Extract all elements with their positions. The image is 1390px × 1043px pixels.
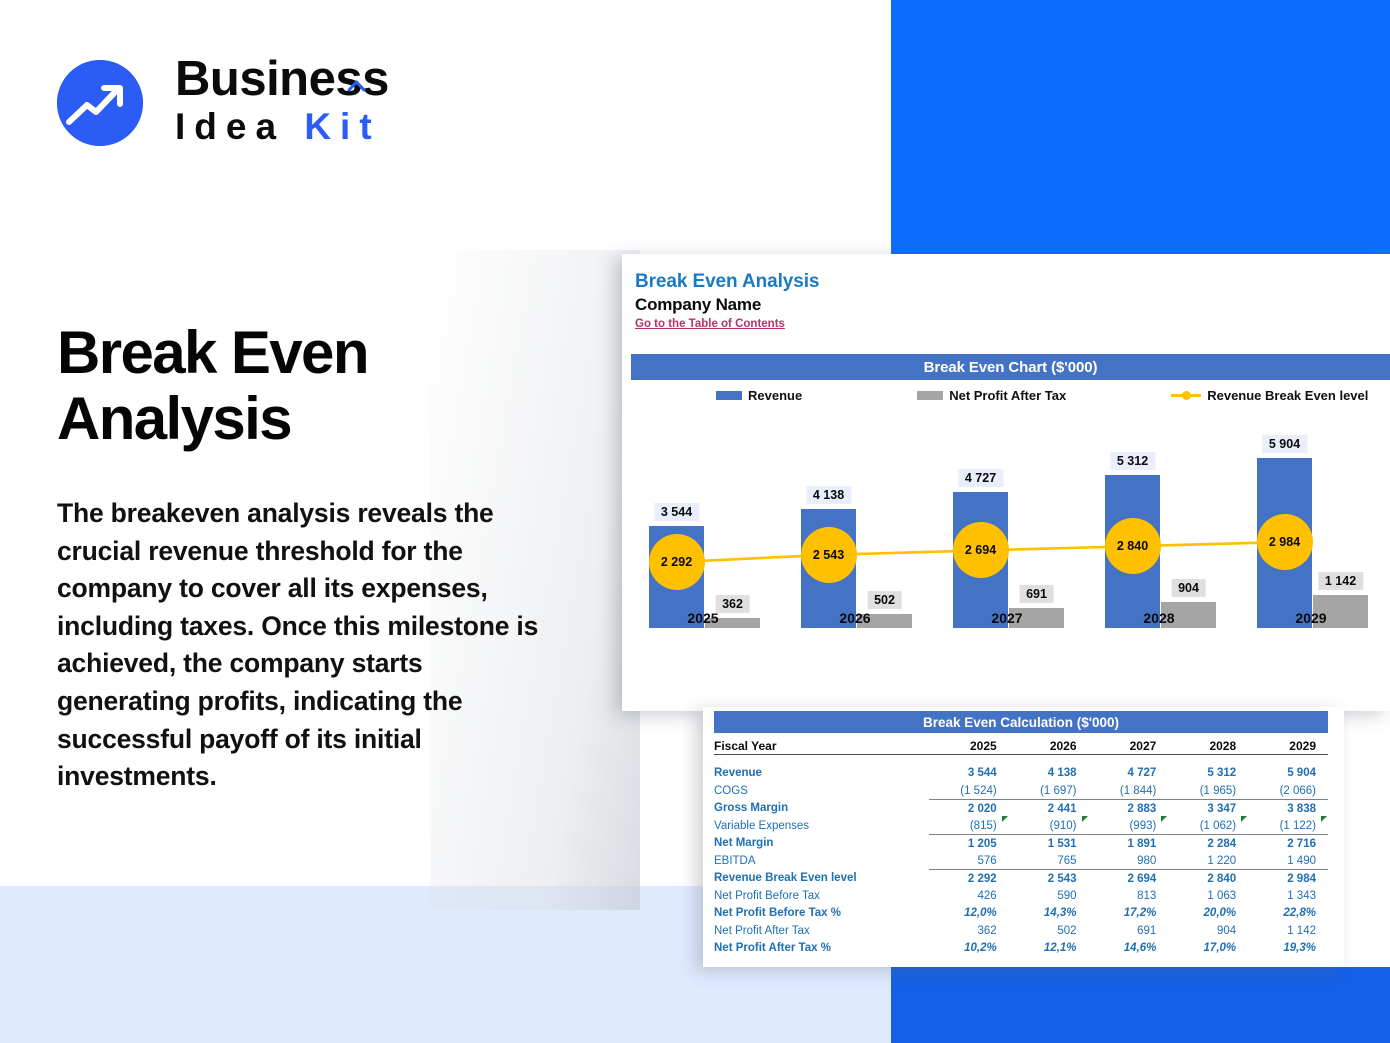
cell-2029: 2 984 (1248, 870, 1328, 888)
decor-block-bottom-right (891, 967, 1390, 1043)
cell-2029: 5 904 (1248, 765, 1328, 783)
cell-2025: 426 (929, 887, 1009, 905)
break-even-marker-2029: 2 984 (1257, 514, 1313, 570)
x-axis-label-2029: 2029 (1235, 610, 1387, 626)
comment-flag-icon (1241, 816, 1247, 822)
cell-2028: 1 063 (1168, 887, 1248, 905)
comment-flag-icon (1321, 816, 1327, 822)
chart-legend: Revenue Net Profit After Tax Revenue Bre… (631, 382, 1390, 408)
cell-2026: 1 531 (1009, 835, 1089, 853)
row-label: Variable Expenses (714, 817, 929, 835)
page-description: The breakeven analysis reveals the cruci… (57, 495, 547, 796)
chart-group-2027: 4 7276912027 (931, 414, 1083, 628)
cell-2029: 19,3% (1248, 940, 1328, 958)
row-label: Gross Margin (714, 800, 929, 818)
data-label-revenue-2028: 5 312 (1110, 452, 1155, 470)
cell-2025: 12,0% (929, 905, 1009, 923)
table-header-fiscal-year: Fiscal Year (714, 737, 929, 755)
cell-2026: 502 (1009, 922, 1089, 940)
chart-group-2026: 4 1385022026 (779, 414, 931, 628)
cell-2026: (910) (1009, 817, 1089, 835)
break-even-marker-2027: 2 694 (953, 522, 1009, 578)
cell-2029: 1 142 (1248, 922, 1328, 940)
brand-logo: Business Idea Kit (57, 52, 437, 157)
data-label-revenue-2027: 4 727 (958, 469, 1003, 487)
table-of-contents-link[interactable]: Go to the Table of Contents (635, 318, 785, 330)
row-label: Net Profit Before Tax % (714, 905, 929, 923)
x-axis-label-2028: 2028 (1083, 610, 1235, 626)
row-label: Net Profit Before Tax (714, 887, 929, 905)
data-label-npat-2029: 1 142 (1318, 572, 1363, 590)
brand-kit-text: Kit (304, 106, 380, 147)
cell-2028: 1 220 (1168, 852, 1248, 870)
cell-2025: (815) (929, 817, 1009, 835)
data-label-revenue-2025: 3 544 (654, 503, 699, 521)
cell-2027: 4 727 (1089, 765, 1169, 783)
cell-2029: (2 066) (1248, 782, 1328, 800)
cell-2027: 17,2% (1089, 905, 1169, 923)
cell-2026: 12,1% (1009, 940, 1089, 958)
row-label: EBITDA (714, 852, 929, 870)
brand-name-line2: Idea Kit (175, 106, 389, 148)
cell-2026: (1 697) (1009, 782, 1089, 800)
cell-2027: 1 891 (1089, 835, 1169, 853)
table-header-2029: 2029 (1248, 737, 1328, 755)
table-row: Net Profit After Tax3625026919041 142 (714, 922, 1328, 940)
cell-2025: 3 544 (929, 765, 1009, 783)
row-label: Revenue Break Even level (714, 870, 929, 888)
data-label-revenue-2026: 4 138 (806, 486, 851, 504)
table-row: Revenue Break Even level2 2922 5432 6942… (714, 870, 1328, 888)
cell-2027: (993) (1089, 817, 1169, 835)
table-title-band: Break Even Calculation ($'000) (714, 711, 1328, 733)
cell-2029: 22,8% (1248, 905, 1328, 923)
cell-2027: 2 883 (1089, 800, 1169, 818)
chart-group-2028: 5 3129042028 (1083, 414, 1235, 628)
row-label: Revenue (714, 765, 929, 783)
cell-2026: 590 (1009, 887, 1089, 905)
cell-2028: 904 (1168, 922, 1248, 940)
chart-group-2029: 5 9041 1422029 (1235, 414, 1387, 628)
cell-2028: 3 347 (1168, 800, 1248, 818)
brand-name-line1: Business (175, 52, 389, 106)
table-header-2025: 2025 (929, 737, 1009, 755)
cell-2029: 1 490 (1248, 852, 1328, 870)
break-even-marker-2025: 2 292 (649, 534, 705, 590)
cell-2028: 20,0% (1168, 905, 1248, 923)
chart-panel: Break Even Analysis Company Name Go to t… (622, 254, 1390, 711)
table-row: Net Margin1 2051 5311 8912 2842 716 (714, 835, 1328, 853)
chart-title-band: Break Even Chart ($'000) (631, 354, 1390, 380)
legend-label-break-even: Revenue Break Even level (1207, 388, 1368, 403)
row-label: COGS (714, 782, 929, 800)
table-header-2027: 2027 (1089, 737, 1169, 755)
table-row: COGS(1 524)(1 697)(1 844)(1 965)(2 066) (714, 782, 1328, 800)
sheet-title: Break Even Analysis (635, 271, 819, 293)
legend-item-revenue: Revenue (716, 388, 802, 403)
comment-flag-icon (1002, 816, 1008, 822)
cell-2029: (1 122) (1248, 817, 1328, 835)
table-head: Fiscal Year20252026202720282029 (714, 737, 1328, 755)
legend-label-npat: Net Profit After Tax (949, 388, 1066, 403)
cell-2026: 2 543 (1009, 870, 1089, 888)
cell-2027: 2 694 (1089, 870, 1169, 888)
cell-2027: 691 (1089, 922, 1169, 940)
break-even-calculation-table: Fiscal Year20252026202720282029 Revenue3… (714, 737, 1328, 957)
legend-item-net-profit-after-tax: Net Profit After Tax (917, 388, 1066, 403)
cell-2027: 813 (1089, 887, 1169, 905)
data-label-npat-2026: 502 (867, 591, 902, 609)
brand-idea-text: Idea (175, 106, 304, 147)
comment-flag-icon (1161, 816, 1167, 822)
cell-2025: 2 292 (929, 870, 1009, 888)
chart-group-2025: 3 5443622025 (627, 414, 779, 628)
legend-swatch-revenue-icon (716, 391, 742, 400)
cell-2027: (1 844) (1089, 782, 1169, 800)
row-label: Net Profit After Tax % (714, 940, 929, 958)
table-row: Gross Margin2 0202 4412 8833 3473 838 (714, 800, 1328, 818)
cell-2027: 980 (1089, 852, 1169, 870)
page-title: Break EvenAnalysis (57, 320, 527, 452)
circumflex-accent-icon (347, 49, 366, 62)
data-label-npat-2028: 904 (1171, 579, 1206, 597)
cell-2026: 765 (1009, 852, 1089, 870)
slide-root: Business Idea Kit Break EvenAnalysis The… (0, 0, 1390, 1043)
x-axis-label-2025: 2025 (627, 610, 779, 626)
cell-2026: 2 441 (1009, 800, 1089, 818)
cell-2027: 14,6% (1089, 940, 1169, 958)
data-label-npat-2027: 691 (1019, 585, 1054, 603)
cell-2028: 5 312 (1168, 765, 1248, 783)
cell-2028: 17,0% (1168, 940, 1248, 958)
cell-2025: 1 205 (929, 835, 1009, 853)
cell-2025: 10,2% (929, 940, 1009, 958)
legend-label-revenue: Revenue (748, 388, 802, 403)
row-label: Net Margin (714, 835, 929, 853)
table-body: Revenue3 5444 1384 7275 3125 904COGS(1 5… (714, 755, 1328, 958)
table-row: Net Profit After Tax %10,2%12,1%14,6%17,… (714, 940, 1328, 958)
cell-2025: (1 524) (929, 782, 1009, 800)
cell-2028: 2 840 (1168, 870, 1248, 888)
cell-2028: (1 062) (1168, 817, 1248, 835)
cell-2025: 2 020 (929, 800, 1009, 818)
cell-2028: (1 965) (1168, 782, 1248, 800)
x-axis-label-2026: 2026 (779, 610, 931, 626)
cell-2026: 4 138 (1009, 765, 1089, 783)
legend-swatch-npat-icon (917, 391, 943, 400)
growth-arrow-icon (57, 60, 143, 146)
table-row: Revenue3 5444 1384 7275 3125 904 (714, 765, 1328, 783)
x-axis-label-2027: 2027 (931, 610, 1083, 626)
cell-2029: 2 716 (1248, 835, 1328, 853)
table-header-2026: 2026 (1009, 737, 1089, 755)
cell-2026: 14,3% (1009, 905, 1089, 923)
table-row: Variable Expenses(815)(910)(993)(1 062)(… (714, 817, 1328, 835)
cell-2029: 1 343 (1248, 887, 1328, 905)
cell-2025: 362 (929, 922, 1009, 940)
comment-flag-icon (1082, 816, 1088, 822)
table-row: Net Profit Before Tax %12,0%14,3%17,2%20… (714, 905, 1328, 923)
sheet-company-name: Company Name (635, 295, 761, 315)
decor-block-top-right (891, 0, 1390, 259)
table-row: EBITDA5767659801 2201 490 (714, 852, 1328, 870)
calculation-panel: Break Even Calculation ($'000) Fiscal Ye… (703, 707, 1344, 967)
break-even-marker-2028: 2 840 (1105, 518, 1161, 574)
table-spacer-row (714, 755, 1328, 765)
cell-2025: 576 (929, 852, 1009, 870)
table-header-2028: 2028 (1168, 737, 1248, 755)
legend-item-break-even-level: Revenue Break Even level (1171, 388, 1368, 403)
cell-2028: 2 284 (1168, 835, 1248, 853)
table-row: Net Profit Before Tax4265908131 0631 343 (714, 887, 1328, 905)
row-label: Net Profit After Tax (714, 922, 929, 940)
cell-2029: 3 838 (1248, 800, 1328, 818)
legend-swatch-break-even-icon (1171, 389, 1201, 401)
break-even-chart-plot: 3 54436220254 13850220264 72769120275 31… (631, 414, 1390, 664)
data-label-revenue-2029: 5 904 (1262, 435, 1307, 453)
break-even-marker-2026: 2 543 (801, 527, 857, 583)
table-header-row: Fiscal Year20252026202720282029 (714, 737, 1328, 755)
